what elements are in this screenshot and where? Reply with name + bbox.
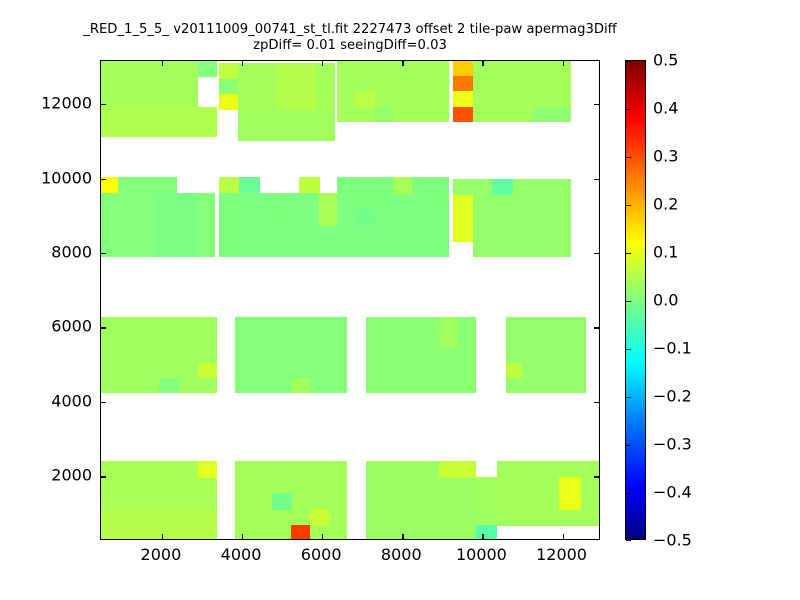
x-tick-label: 6000 xyxy=(301,545,342,564)
heatmap-cell xyxy=(219,79,239,95)
colorbar-tick xyxy=(626,540,631,541)
heatmap-cell xyxy=(277,63,316,110)
detector-tile xyxy=(366,317,476,393)
colorbar[interactable] xyxy=(625,60,646,540)
detector-tile xyxy=(101,317,217,393)
x-axis-tick-top xyxy=(563,61,564,66)
colorbar-tick xyxy=(626,109,631,110)
colorbar-tick-label: −0.1 xyxy=(653,339,692,358)
x-axis-tick-top xyxy=(322,61,323,66)
heatmap-cell xyxy=(219,94,239,110)
heatmap-surface xyxy=(101,61,599,539)
colorbar-tick xyxy=(626,349,631,350)
colorbar-tick xyxy=(626,157,631,158)
x-tick-label: 4000 xyxy=(221,545,262,564)
heatmap-cell xyxy=(476,525,497,540)
detector-tile xyxy=(100,177,215,257)
heatmap-cell xyxy=(272,493,291,510)
title-line-2: zpDiff= 0.01 seeingDiff=0.03 xyxy=(0,38,700,54)
x-tick-label: 8000 xyxy=(381,545,422,564)
heatmap-cell xyxy=(453,107,473,123)
heatmap-cell xyxy=(101,61,198,107)
heatmap-cell xyxy=(453,61,473,77)
colorbar-tick xyxy=(626,301,631,302)
y-tick-label: 6000 xyxy=(51,317,92,336)
colorbar-tick-label: 0.2 xyxy=(653,195,678,214)
heatmap-cell xyxy=(238,110,335,141)
heatmap-cell xyxy=(366,317,476,393)
y-tick-label: 12000 xyxy=(41,94,92,113)
colorbar-tick xyxy=(626,205,631,206)
y-axis-tick-right xyxy=(594,402,599,403)
detector-tile xyxy=(337,61,449,137)
detector-tile xyxy=(476,461,600,540)
colorbar-tick xyxy=(626,445,631,446)
x-axis-tick xyxy=(563,534,564,539)
heatmap-cell xyxy=(453,76,473,92)
heatmap-cell xyxy=(492,179,512,195)
heatmap-cell xyxy=(374,107,393,123)
heatmap-cell xyxy=(532,107,571,123)
heatmap-cell xyxy=(291,378,310,393)
x-axis-tick xyxy=(162,534,163,539)
heatmap-cell xyxy=(299,177,320,194)
figure-title: _RED_1_5_5_ v20111009_00741_st_tl.fit 22… xyxy=(0,22,700,53)
y-tick-label: 2000 xyxy=(51,466,92,485)
x-axis-tick-top xyxy=(242,61,243,66)
y-axis-tick-right xyxy=(594,253,599,254)
detector-tile xyxy=(453,179,571,257)
y-tick-label: 8000 xyxy=(51,243,92,262)
heatmap-cell xyxy=(473,195,571,257)
detector-tile xyxy=(235,317,347,393)
heatmap-cell xyxy=(101,107,217,137)
colorbar-tick-label: −0.5 xyxy=(653,531,692,550)
title-line-1: _RED_1_5_5_ v20111009_00741_st_tl.fit 22… xyxy=(0,22,700,38)
heatmap-cell xyxy=(356,209,375,226)
detector-tile xyxy=(453,61,571,137)
heatmap-cell xyxy=(291,525,310,540)
heatmap-cell xyxy=(356,91,375,107)
colorbar-tick-label: −0.4 xyxy=(653,483,692,502)
x-axis-tick xyxy=(402,534,403,539)
y-tick-label: 4000 xyxy=(51,391,92,410)
y-axis-tick xyxy=(101,402,106,403)
heatmap-cell xyxy=(118,177,177,194)
heatmap-cell xyxy=(101,509,217,540)
y-tick-label: 10000 xyxy=(41,168,92,187)
heatmap-cell xyxy=(453,195,473,242)
colorbar-tick-label: 0.3 xyxy=(653,147,678,166)
detector-tile xyxy=(101,461,217,540)
x-axis-tick xyxy=(322,534,323,539)
y-axis-tick-right xyxy=(594,327,599,328)
detector-tile xyxy=(366,461,476,540)
y-axis-tick-right xyxy=(594,476,599,477)
x-axis-tick-top xyxy=(162,61,163,66)
heatmap-cell xyxy=(506,363,522,379)
heatmap-cell xyxy=(198,363,217,379)
x-axis-tick-top xyxy=(482,61,483,66)
heatmap-cell xyxy=(439,317,458,348)
colorbar-tick xyxy=(626,493,631,494)
y-axis-tick xyxy=(101,327,106,328)
colorbar-tick xyxy=(626,61,631,62)
heatmap-cell xyxy=(439,461,476,478)
colorbar-tick-label: 0.1 xyxy=(653,243,678,262)
y-axis-tick xyxy=(101,476,106,477)
y-axis-tick xyxy=(101,253,106,254)
heatmap-cell xyxy=(559,477,580,510)
heatmap-cell xyxy=(157,193,196,257)
heatmap-cell xyxy=(159,378,179,393)
colorbar-tick xyxy=(626,397,631,398)
heatmap-cell xyxy=(497,461,600,526)
x-axis-tick xyxy=(482,534,483,539)
heatmap-cell xyxy=(219,63,239,79)
figure-canvas: _RED_1_5_5_ v20111009_00741_st_tl.fit 22… xyxy=(0,0,800,600)
y-axis-tick-right xyxy=(594,104,599,105)
y-axis-tick xyxy=(101,104,106,105)
colorbar-tick-label: −0.3 xyxy=(653,435,692,454)
y-axis-tick-right xyxy=(594,179,599,180)
x-axis-tick xyxy=(242,534,243,539)
heatmap-cell xyxy=(310,509,329,526)
x-axis-tick-top xyxy=(402,61,403,66)
colorbar-tick-label: −0.2 xyxy=(653,387,692,406)
detector-tile xyxy=(235,461,347,540)
x-tick-label: 12000 xyxy=(536,545,587,564)
heatmap-cell xyxy=(219,177,240,194)
heatmap-cell xyxy=(476,477,497,526)
heatmap-cell xyxy=(198,461,217,478)
heatmap-axes[interactable] xyxy=(100,60,600,540)
heatmap-cell xyxy=(239,177,260,194)
detector-tile xyxy=(219,177,339,257)
heatmap-cell xyxy=(453,91,473,107)
detector-tile xyxy=(101,61,217,137)
heatmap-cell xyxy=(393,177,412,194)
colorbar-tick xyxy=(626,253,631,254)
colorbar-tick-label: 0.5 xyxy=(653,51,678,70)
x-tick-label: 2000 xyxy=(141,545,182,564)
x-tick-label: 10000 xyxy=(456,545,507,564)
heatmap-cell xyxy=(319,193,339,226)
colorbar-tick-label: 0.4 xyxy=(653,99,678,118)
heatmap-cell xyxy=(198,61,217,77)
detector-tile xyxy=(506,317,600,393)
colorbar-tick-label: 0.0 xyxy=(653,291,678,310)
heatmap-cell xyxy=(506,317,586,393)
y-axis-tick xyxy=(101,179,106,180)
detector-tile xyxy=(219,63,335,141)
detector-tile xyxy=(337,177,449,257)
